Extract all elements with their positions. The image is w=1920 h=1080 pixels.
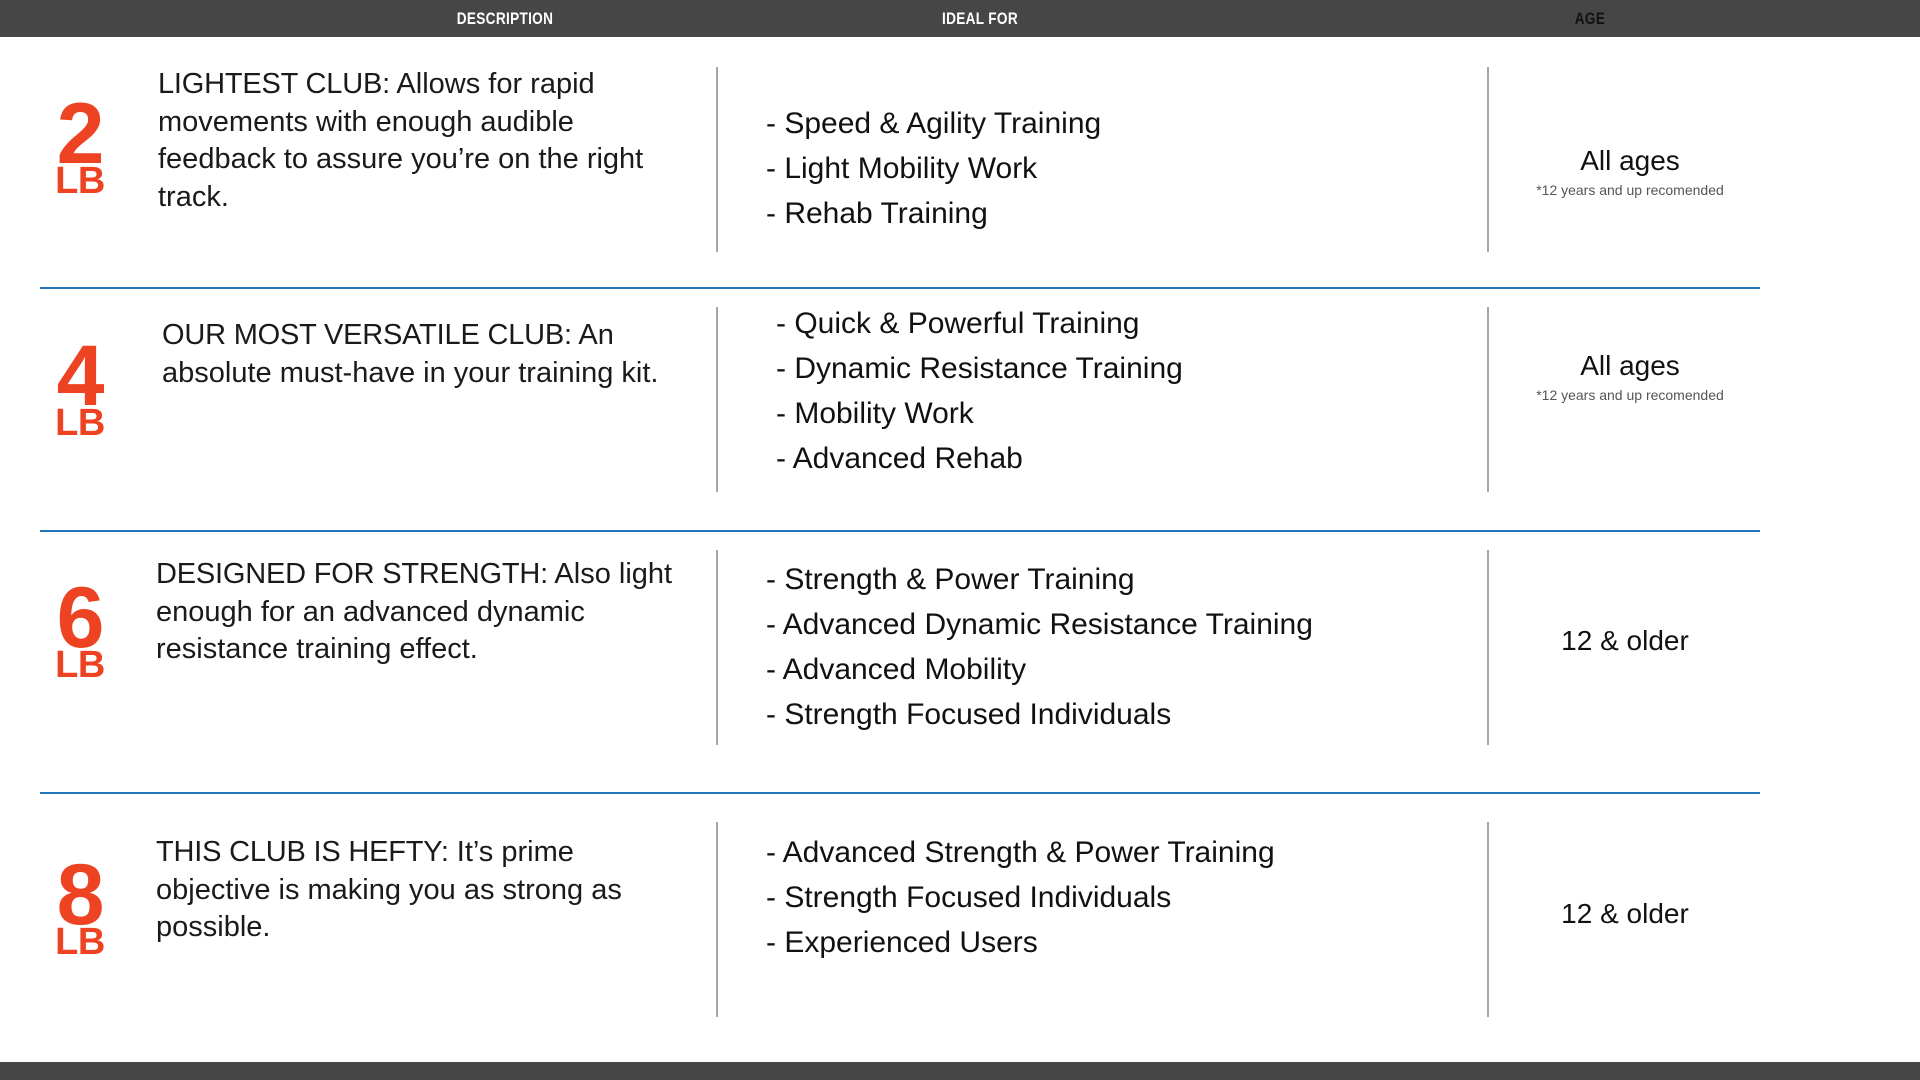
column-header-age: AGE — [1406, 0, 1774, 37]
list-item: - Advanced Rehab — [776, 436, 1476, 481]
row-age-value: All ages — [1495, 351, 1765, 382]
column-divider-right — [1487, 307, 1489, 492]
weight-badge: 8 LB — [24, 860, 136, 958]
row-age-note: *12 years and up recomended — [1495, 388, 1765, 403]
row-age: 12 & older — [1490, 626, 1760, 663]
row-age-note: *12 years and up recomended — [1495, 183, 1765, 198]
weight-number: 2 — [24, 99, 136, 170]
row-description-lead: THIS CLUB IS HEFTY: — [156, 836, 449, 868]
weight-number: 8 — [24, 860, 136, 931]
comparison-table-body: 2 LB LIGHTEST CLUB: Allows for rapid mov… — [0, 37, 1920, 1042]
column-divider-left — [716, 550, 718, 745]
row-age-value: 12 & older — [1490, 626, 1760, 657]
weight-badge: 6 LB — [24, 583, 136, 681]
weight-unit: LB — [24, 166, 136, 197]
weight-number: 4 — [24, 341, 136, 412]
table-row: 6 LB DESIGNED FOR STRENGTH: Also light e… — [0, 532, 1920, 794]
row-age-value: 12 & older — [1490, 899, 1760, 930]
table-row: 2 LB LIGHTEST CLUB: Allows for rapid mov… — [0, 37, 1920, 289]
list-item: - Strength Focused Individuals — [766, 875, 1466, 920]
column-divider-right — [1487, 822, 1489, 1017]
list-item: - Light Mobility Work — [766, 146, 1466, 191]
column-divider-left — [716, 822, 718, 1017]
row-age-value: All ages — [1495, 146, 1765, 177]
row-description-lead: DESIGNED FOR STRENGTH: — [156, 558, 548, 590]
list-item: - Quick & Powerful Training — [776, 301, 1476, 346]
weight-badge: 4 LB — [24, 341, 136, 439]
column-divider-right — [1487, 550, 1489, 745]
weight-unit: LB — [24, 927, 136, 958]
row-ideal-for-list: - Quick & Powerful Training - Dynamic Re… — [776, 301, 1476, 481]
column-divider-left — [716, 307, 718, 492]
row-description: DESIGNED FOR STRENGTH: Also light enough… — [156, 556, 686, 669]
list-item: - Advanced Dynamic Resistance Training — [766, 602, 1466, 647]
table-header-bar: DESCRIPTION IDEAL FOR AGE — [0, 0, 1920, 37]
row-ideal-for-list: - Advanced Strength & Power Training - S… — [766, 830, 1466, 965]
row-ideal-for-list: - Speed & Agility Training - Light Mobil… — [766, 101, 1466, 236]
column-divider-right — [1487, 67, 1489, 252]
table-footer-bar — [0, 1062, 1920, 1080]
table-row: 4 LB OUR MOST VERSATILE CLUB: An absolut… — [0, 289, 1920, 532]
list-item: - Rehab Training — [766, 191, 1466, 236]
weight-badge: 2 LB — [24, 99, 136, 197]
list-item: - Experienced Users — [766, 920, 1466, 965]
row-age: All ages *12 years and up recomended — [1495, 351, 1765, 403]
list-item: - Advanced Mobility — [766, 647, 1466, 692]
row-age: 12 & older — [1490, 899, 1760, 936]
weight-unit: LB — [24, 408, 136, 439]
list-item: - Dynamic Resistance Training — [776, 346, 1476, 391]
column-header-ideal-for: IDEAL FOR — [740, 0, 1220, 37]
weight-unit: LB — [24, 650, 136, 681]
list-item: - Speed & Agility Training — [766, 101, 1466, 146]
column-divider-left — [716, 67, 718, 252]
row-description: OUR MOST VERSATILE CLUB: An absolute mus… — [162, 317, 692, 392]
column-header-description: DESCRIPTION — [265, 0, 745, 37]
table-row: 8 LB THIS CLUB IS HEFTY: It’s prime obje… — [0, 794, 1920, 1042]
weight-number: 6 — [24, 583, 136, 654]
list-item: - Strength Focused Individuals — [766, 692, 1466, 737]
row-description: THIS CLUB IS HEFTY: It’s prime objective… — [156, 834, 686, 947]
list-item: - Strength & Power Training — [766, 557, 1466, 602]
row-description-lead: LIGHTEST CLUB: — [158, 68, 390, 100]
row-age: All ages *12 years and up recomended — [1495, 146, 1765, 198]
row-ideal-for-list: - Strength & Power Training - Advanced D… — [766, 557, 1466, 737]
row-description: LIGHTEST CLUB: Allows for rapid movement… — [158, 66, 688, 217]
row-description-lead: OUR MOST VERSATILE CLUB: — [162, 319, 572, 351]
list-item: - Advanced Strength & Power Training — [766, 830, 1466, 875]
list-item: - Mobility Work — [776, 391, 1476, 436]
